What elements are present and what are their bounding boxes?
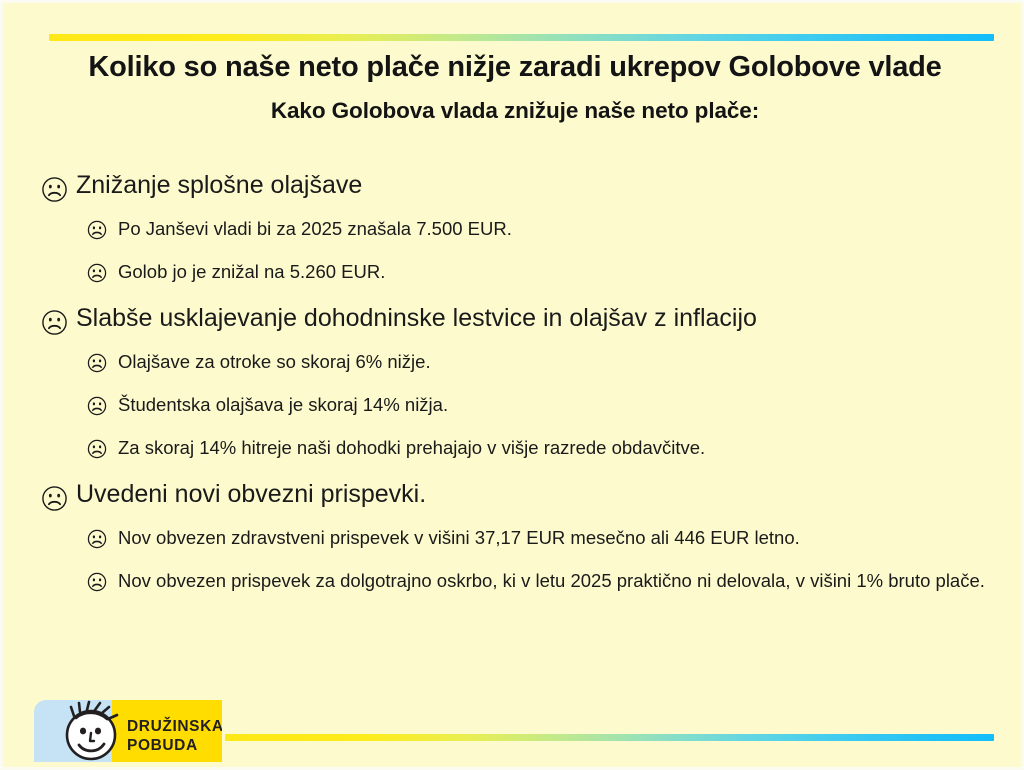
list-item-level2-label: Olajšave za otroke so skoraj 6% nižje. [107,349,431,375]
sad-face-icon [87,529,107,554]
list-item-level2: Nov obvezen prispevek za dolgotrajno osk… [87,568,1001,597]
list-item-level1: Slabše usklajevanje dohodninske lestvice… [41,302,1001,341]
slide: Koliko so naše neto plače nižje zaradi u… [0,0,1024,770]
list-item-level2-label: Nov obvezen zdravstveni prispevek v viši… [107,525,800,551]
list-item-level2-label: Za skoraj 14% hitreje naši dohodki preha… [107,435,705,461]
sad-face-icon [41,485,68,517]
sad-face-icon [87,396,107,421]
list-item-level1-label: Znižanje splošne olajšave [68,169,362,201]
list-item-level2: Nov obvezen zdravstveni prispevek v viši… [87,525,1001,554]
sad-face-icon [87,572,107,597]
content-group: Znižanje splošne olajšave Po Janševi vla… [41,169,1001,288]
organization-logo: DRUŽINSKA POBUDA [34,700,222,762]
content-group: Uvedeni novi obvezni prispevki. Nov obve… [41,478,1001,597]
top-gradient-rule [49,34,994,41]
page-title: Koliko so naše neto plače nižje zaradi u… [3,51,1024,84]
list-item-level1-label: Slabše usklajevanje dohodninske lestvice… [68,302,757,334]
list-item-level2-label: Po Janševi vladi bi za 2025 znašala 7.50… [107,216,512,242]
logo-line-2: POBUDA [127,737,198,754]
list-item-level1-label: Uvedeni novi obvezni prispevki. [68,478,426,510]
page-subtitle: Kako Golobova vlada znižuje naše neto pl… [3,97,1024,124]
sad-face-icon [87,439,107,464]
list-item-level2-label: Golob jo je znižal na 5.260 EUR. [107,259,385,285]
sad-face-icon [41,309,68,341]
list-item-level2-label: Študentska olajšava je skoraj 14% nižja. [107,392,448,418]
sad-face-icon [87,263,107,288]
content-group: Slabše usklajevanje dohodninske lestvice… [41,302,1001,464]
sad-face-icon [87,220,107,245]
list-item-level1: Znižanje splošne olajšave [41,169,1001,208]
list-item-level2: Študentska olajšava je skoraj 14% nižja. [87,392,1001,421]
logo-line-1: DRUŽINSKA [127,717,222,735]
list-item-level2: Za skoraj 14% hitreje naši dohodki preha… [87,435,1001,464]
bottom-gradient-rule [225,734,994,741]
list-item-level2: Po Janševi vladi bi za 2025 znašala 7.50… [87,216,1001,245]
list-item-level1: Uvedeni novi obvezni prispevki. [41,478,1001,517]
list-item-level2-label: Nov obvezen prispevek za dolgotrajno osk… [107,568,985,594]
list-item-level2: Olajšave za otroke so skoraj 6% nižje. [87,349,1001,378]
sad-face-icon [41,176,68,208]
content-list: Znižanje splošne olajšave Po Janševi vla… [41,169,1001,611]
list-item-level2: Golob jo je znižal na 5.260 EUR. [87,259,1001,288]
sad-face-icon [87,353,107,378]
